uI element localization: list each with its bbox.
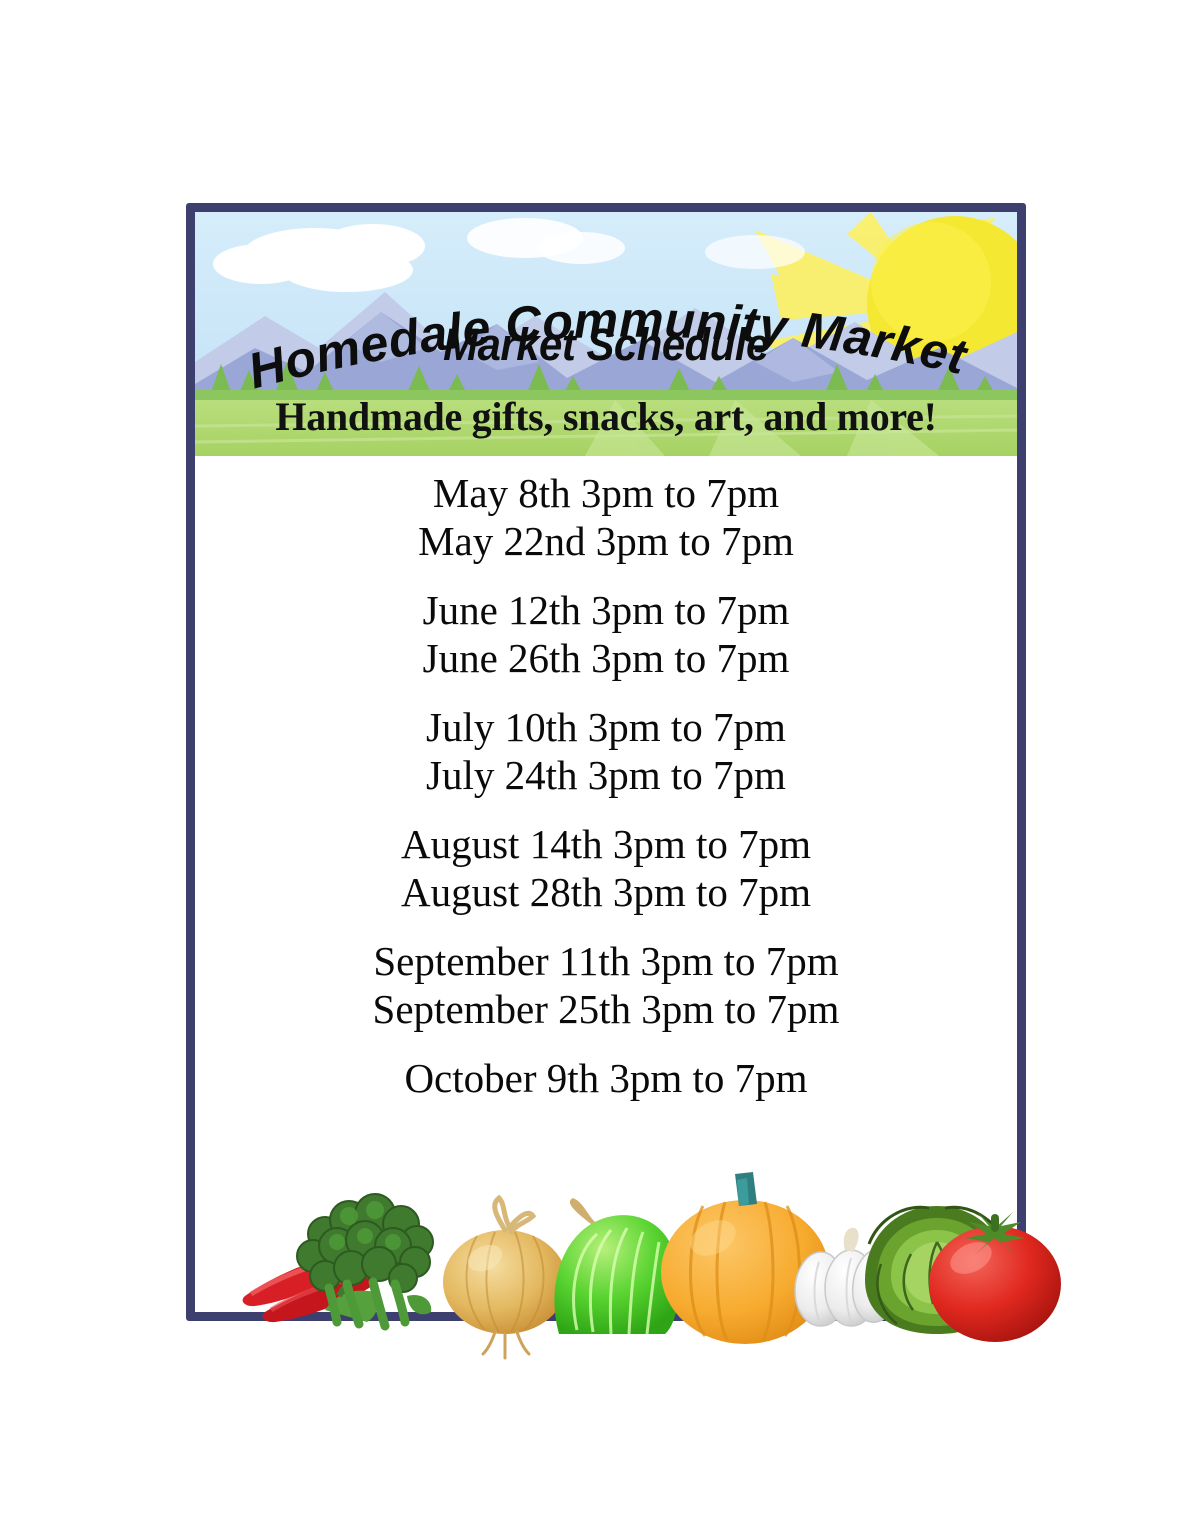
napa-cabbage-icon <box>554 1198 679 1334</box>
schedule-line: June 12th 3pm to 7pm <box>195 587 1017 635</box>
banner-header: Homedale Community Market Market Schedul… <box>195 212 1017 456</box>
schedule-line: October 9th 3pm to 7pm <box>195 1055 1017 1103</box>
schedule-group-june: June 12th 3pm to 7pm June 26th 3pm to 7p… <box>195 587 1017 682</box>
schedule-group-july: July 10th 3pm to 7pm July 24th 3pm to 7p… <box>195 704 1017 799</box>
schedule-line: August 14th 3pm to 7pm <box>195 821 1017 869</box>
schedule-group-august: August 14th 3pm to 7pm August 28th 3pm t… <box>195 821 1017 916</box>
schedule-line: July 10th 3pm to 7pm <box>195 704 1017 752</box>
landscape-illustration <box>195 212 1017 456</box>
schedule-line: May 22nd 3pm to 7pm <box>195 518 1017 566</box>
schedule-line: June 26th 3pm to 7pm <box>195 635 1017 683</box>
schedule-group-may: May 8th 3pm to 7pm May 22nd 3pm to 7pm <box>195 470 1017 565</box>
schedule-line: September 25th 3pm to 7pm <box>195 986 1017 1034</box>
vegetable-footer-art <box>229 1184 995 1334</box>
poster-flyer: Homedale Community Market Market Schedul… <box>186 203 1026 1321</box>
schedule-group-september: September 11th 3pm to 7pm September 25th… <box>195 938 1017 1033</box>
schedule-list: May 8th 3pm to 7pm May 22nd 3pm to 7pm J… <box>195 470 1017 1125</box>
schedule-line: September 11th 3pm to 7pm <box>195 938 1017 986</box>
onion-icon <box>443 1198 567 1358</box>
schedule-line: August 28th 3pm to 7pm <box>195 869 1017 917</box>
schedule-line: July 24th 3pm to 7pm <box>195 752 1017 800</box>
schedule-line: May 8th 3pm to 7pm <box>195 470 1017 518</box>
schedule-group-october: October 9th 3pm to 7pm <box>195 1055 1017 1103</box>
